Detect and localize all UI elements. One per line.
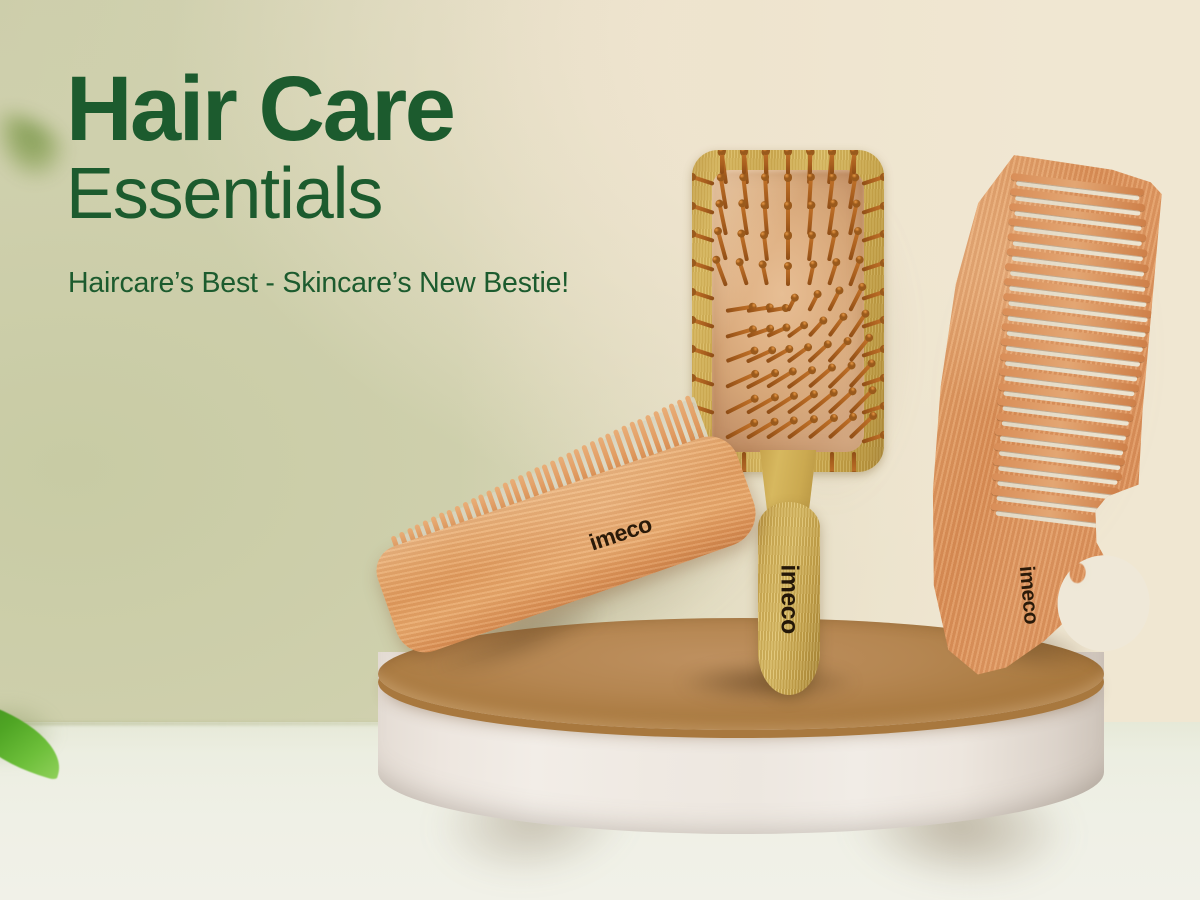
hair-care-promo-banner: Hair Care Essentials Haircare’s Best - S… [0, 0, 1200, 900]
brush-bristle [692, 232, 715, 243]
brush-bristle [861, 203, 884, 214]
brush-bristle [807, 234, 814, 261]
brush-bristle [861, 175, 884, 186]
brush-bristle [720, 150, 724, 174]
brush-bristle [786, 234, 790, 260]
brush-bristle [827, 261, 838, 286]
brush-bristle [861, 433, 884, 444]
brush-bristle [852, 150, 856, 174]
brush-bristle [692, 175, 715, 186]
brush-bristle [828, 289, 842, 312]
brush-bristle [828, 315, 846, 338]
brush-bristle [830, 150, 834, 174]
brush-bristle [807, 263, 815, 286]
brush-bristle [861, 347, 884, 358]
page-subtitle: Essentials [66, 158, 706, 231]
brush-bristle [692, 318, 715, 329]
brush-bristle [786, 204, 790, 235]
brush-bristle [742, 452, 746, 472]
brush-bristle [692, 347, 715, 358]
brush-bristle [827, 232, 837, 261]
brush-bristle [807, 319, 825, 338]
brush-bristle [692, 289, 715, 300]
brush-bristle [692, 261, 715, 272]
brush-bristle [861, 289, 884, 300]
brush-bristle [764, 150, 768, 174]
page-title: Hair Care [66, 66, 706, 152]
brush-bristle [762, 234, 769, 261]
brush-bristle [830, 452, 834, 472]
brush-bristle [786, 265, 790, 286]
tagline: Haircare’s Best - Skincare’s New Bestie! [68, 266, 706, 300]
brush-bristle [808, 150, 812, 174]
brush-bristle [852, 452, 856, 472]
headline-block: Hair Care Essentials Haircare’s Best - S… [66, 66, 706, 300]
brush-handle: imeco [758, 502, 820, 695]
brush-bristle [786, 150, 790, 174]
brand-logo-comb-right: imeco [1014, 565, 1043, 625]
brush-bristle [807, 292, 820, 312]
brush-bristle [692, 203, 715, 214]
brush-bristle [861, 261, 884, 272]
brush-bristle [737, 261, 748, 286]
brush-bristle [761, 263, 769, 286]
brush-bristle [861, 318, 884, 329]
brush-bristle [714, 258, 728, 286]
brush-bristle [739, 232, 749, 261]
brush-bristle [861, 232, 884, 243]
brush-bristle [742, 150, 746, 174]
